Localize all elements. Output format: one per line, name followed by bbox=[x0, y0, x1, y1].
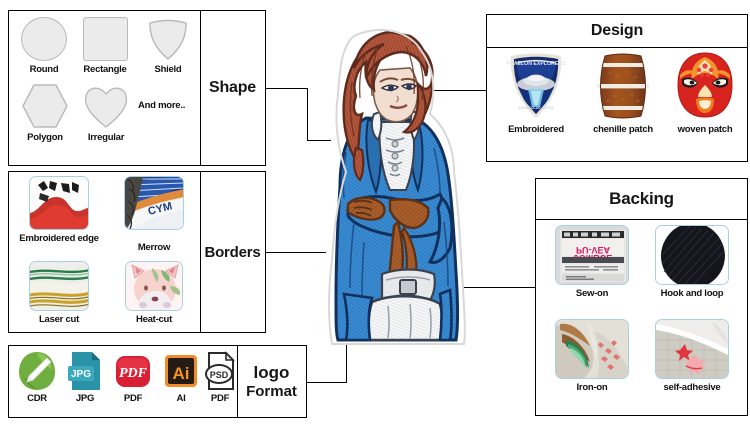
borders-item-label: Embroidered edge bbox=[13, 233, 105, 244]
woven-opera-mask-patch-thumb bbox=[672, 51, 738, 121]
borders-category-label: Borders bbox=[200, 172, 265, 332]
backing-item-label: Hook and loop bbox=[642, 288, 742, 299]
shape-item-irregular[interactable]: Irregular bbox=[75, 83, 137, 143]
shield-shape-icon bbox=[146, 17, 190, 61]
design-item-woven[interactable]: woven patch bbox=[664, 51, 746, 135]
logo-format-item-ai[interactable]: Ai AI bbox=[157, 350, 205, 404]
design-panel-divider bbox=[487, 47, 747, 48]
shape-item-shield[interactable]: Shield bbox=[140, 17, 196, 75]
logo-format-item-cdr[interactable]: CDR bbox=[13, 350, 61, 404]
logo-format-item-label: PDF bbox=[199, 393, 241, 404]
borders-item-merrow[interactable]: CYM Merrow bbox=[108, 176, 200, 253]
backing-category-label: Backing bbox=[536, 179, 747, 219]
backing-item-self-adhesive[interactable]: self-adhesive bbox=[642, 319, 742, 393]
circle-shape-icon bbox=[21, 17, 67, 61]
svg-text:PSD: PSD bbox=[210, 370, 229, 380]
logo-format-item-psd[interactable]: PSD PDF bbox=[199, 350, 241, 404]
backing-item-sew-on[interactable]: PU-VEA JOMBUE Sew-o bbox=[544, 225, 640, 299]
chenille-barrel-patch-thumb bbox=[590, 51, 656, 121]
psd-file-icon: PSD bbox=[202, 350, 238, 392]
design-item-embroidered[interactable]: PHAELON EXPLORERS AUDACIA AD ASTRA Embro… bbox=[492, 51, 580, 135]
design-category-label: Design bbox=[487, 15, 747, 47]
borders-item-label: Laser cut bbox=[13, 314, 105, 325]
design-item-label: Embroidered bbox=[492, 124, 580, 135]
backing-item-iron-on[interactable]: Iron-on bbox=[544, 319, 640, 393]
design-item-label: woven patch bbox=[664, 124, 746, 135]
svg-text:PDF: PDF bbox=[119, 366, 148, 381]
logo-format-item-jpg[interactable]: JPG JPG bbox=[61, 350, 109, 404]
backing-item-label: Iron-on bbox=[544, 382, 640, 393]
infographic-canvas: Round Rectangle Shield Polygon bbox=[0, 0, 750, 425]
jpg-file-icon: JPG bbox=[65, 350, 105, 392]
illustrator-file-icon: Ai bbox=[161, 350, 201, 392]
svg-text:Ai: Ai bbox=[173, 364, 190, 383]
borders-item-label: Heat-cut bbox=[108, 314, 200, 325]
shape-panel: Round Rectangle Shield Polygon bbox=[8, 10, 266, 166]
merrow-border-thumb: CYM bbox=[124, 176, 184, 230]
iron-on-backing-thumb bbox=[555, 319, 629, 379]
logo-format-item-label: JPG bbox=[61, 393, 109, 404]
design-item-chenille[interactable]: chenille patch bbox=[580, 51, 666, 135]
shape-item-label: Rectangle bbox=[71, 64, 139, 75]
embroidered-shield-patch-thumb: PHAELON EXPLORERS AUDACIA AD ASTRA bbox=[503, 51, 569, 121]
logo-format-item-pdf[interactable]: PDF PDF bbox=[109, 350, 157, 404]
square-shape-icon bbox=[83, 17, 128, 61]
backing-item-hook-and-loop[interactable]: Hook and loop bbox=[642, 225, 742, 299]
heat-cut-thumb bbox=[125, 261, 183, 311]
heart-shape-icon bbox=[82, 83, 130, 129]
logo-format-panel: CDR JPG JPG PDF P bbox=[8, 345, 307, 418]
logo-format-item-label: AI bbox=[157, 393, 205, 404]
svg-text:AUDACIA AD ASTRA: AUDACIA AD ASTRA bbox=[518, 106, 554, 110]
logo-format-label-line2: Format bbox=[246, 382, 297, 401]
logo-format-item-label: PDF bbox=[109, 393, 157, 404]
logo-format-item-label: CDR bbox=[13, 393, 61, 404]
center-patch-image bbox=[294, 22, 489, 352]
shape-item-rectangle[interactable]: Rectangle bbox=[71, 17, 139, 75]
shape-item-round[interactable]: Round bbox=[15, 17, 73, 75]
backing-panel-divider bbox=[536, 219, 747, 220]
hexagon-shape-icon bbox=[21, 83, 69, 129]
sew-on-backing-thumb: PU-VEA JOMBUE bbox=[555, 225, 629, 285]
shape-item-label: Round bbox=[15, 64, 73, 75]
design-item-label: chenille patch bbox=[580, 124, 666, 135]
borders-item-embroidered-edge[interactable]: Embroidered edge bbox=[13, 176, 105, 244]
svg-text:JPG: JPG bbox=[71, 369, 91, 380]
hook-and-loop-backing-thumb bbox=[655, 225, 729, 285]
borders-item-label: Merrow bbox=[108, 242, 200, 253]
shape-item-label: Polygon bbox=[14, 132, 76, 143]
shape-item-label: Irregular bbox=[75, 132, 137, 143]
embroidered-edge-thumb bbox=[29, 176, 89, 230]
laser-cut-thumb bbox=[29, 261, 89, 311]
logo-format-category-label: logo Format bbox=[237, 346, 306, 417]
self-adhesive-backing-thumb bbox=[655, 319, 729, 379]
svg-text:PHAELON EXPLORERS: PHAELON EXPLORERS bbox=[507, 61, 566, 67]
shape-item-polygon[interactable]: Polygon bbox=[14, 83, 76, 143]
design-panel: Design PHAELON EXPLORERS AUDACIA AD ASTR… bbox=[486, 14, 748, 162]
borders-item-laser-cut[interactable]: Laser cut bbox=[13, 261, 105, 325]
logo-format-label-line1: logo bbox=[254, 363, 290, 382]
backing-item-label: self-adhesive bbox=[642, 382, 742, 393]
shape-category-label: Shape bbox=[200, 11, 265, 165]
borders-panel: Embroidered edge CYM bbox=[8, 171, 266, 333]
backing-panel: Backing PU-VEA JOMB bbox=[535, 178, 748, 416]
borders-item-heat-cut[interactable]: Heat-cut bbox=[108, 261, 200, 325]
coreldraw-file-icon bbox=[17, 350, 57, 392]
pdf-file-icon: PDF bbox=[113, 350, 153, 392]
backing-item-label: Sew-on bbox=[544, 288, 640, 299]
connector-logoformat-h1 bbox=[307, 382, 347, 383]
shape-more-text: And more.. bbox=[138, 100, 200, 111]
shape-item-label: Shield bbox=[140, 64, 196, 75]
